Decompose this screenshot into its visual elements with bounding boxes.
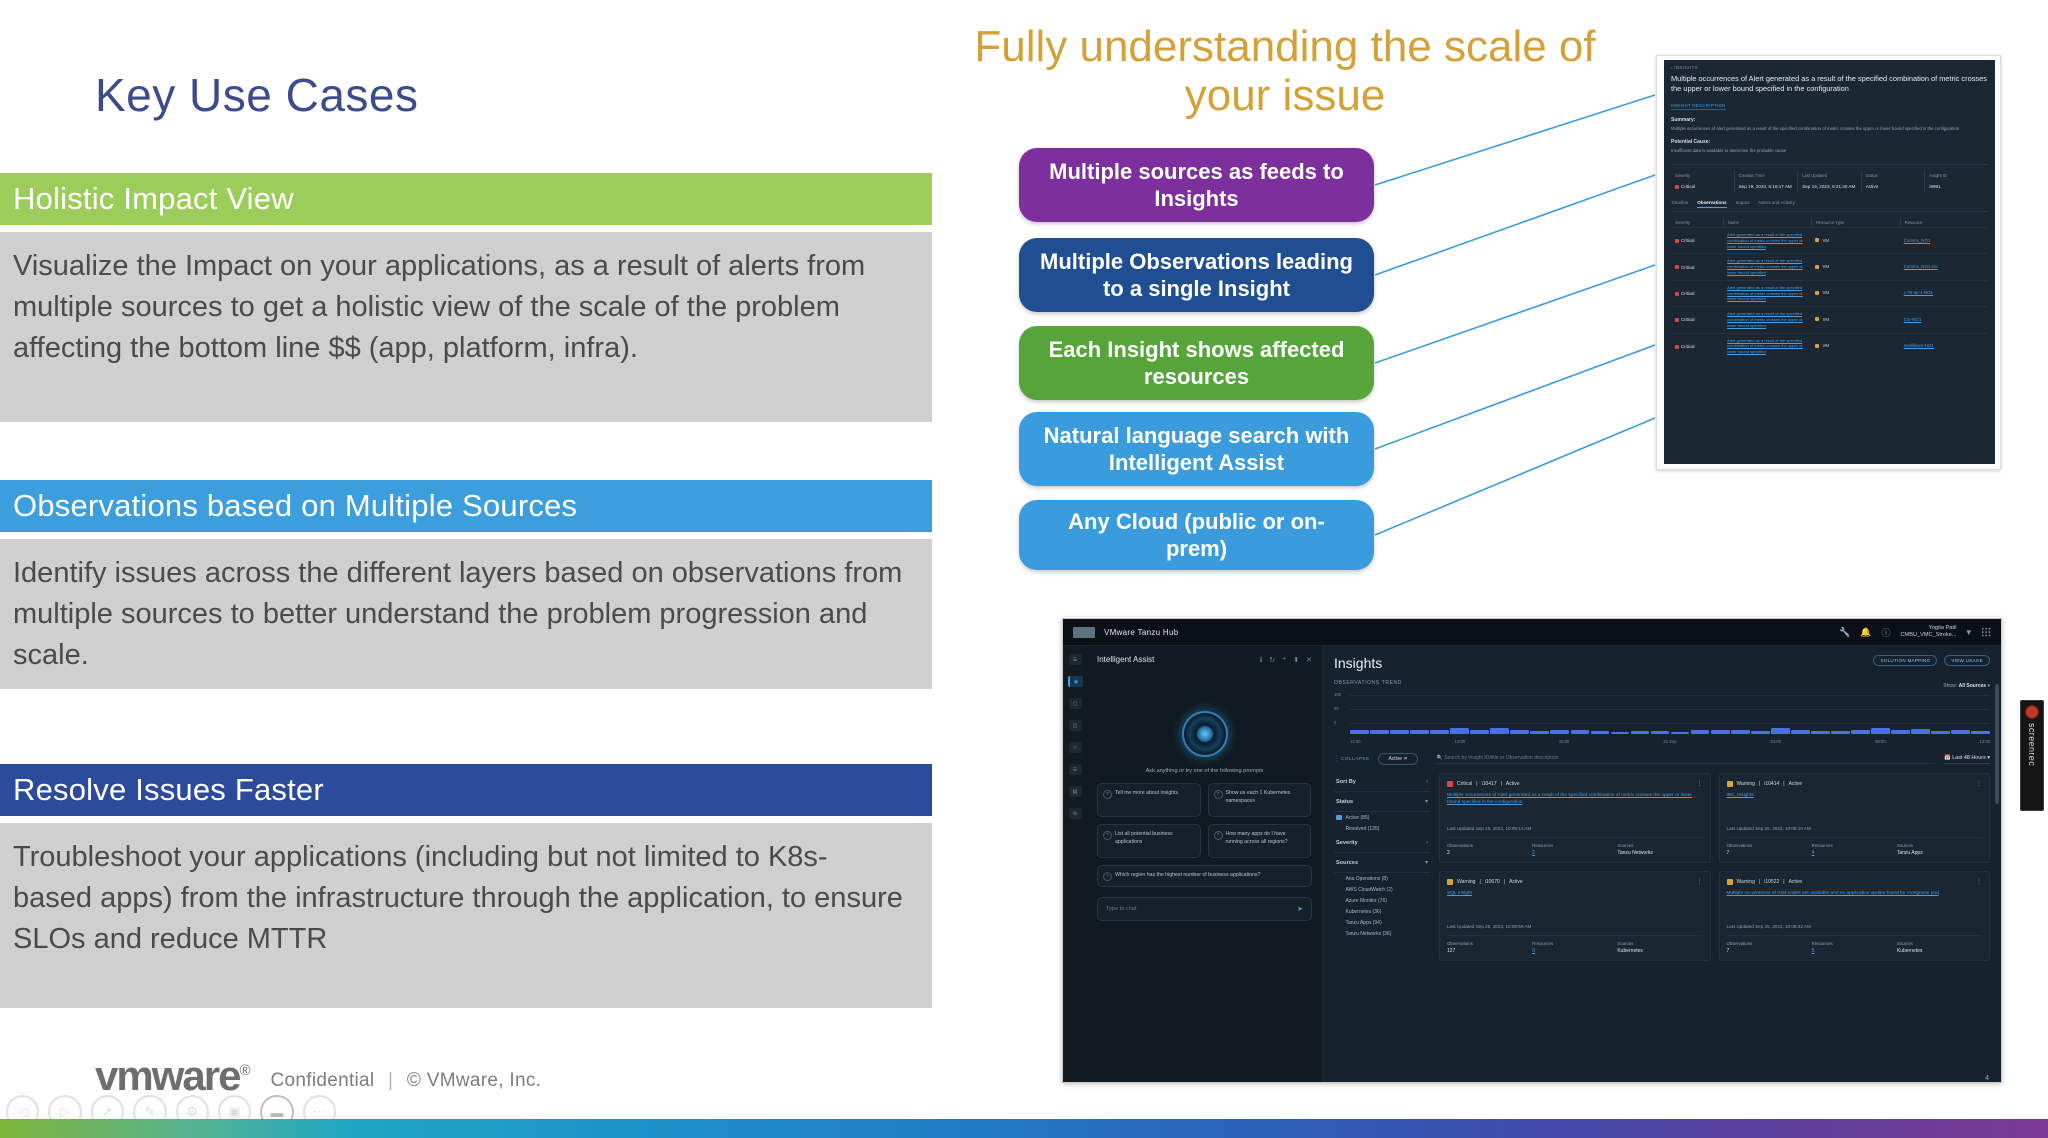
assist-prompt-list: ? Tell me more about insights ? Show us … — [1087, 774, 1322, 887]
chart-bar[interactable] — [1490, 728, 1509, 734]
chart-bar[interactable] — [1811, 731, 1830, 735]
obs-severity-text: Critical — [1681, 291, 1694, 296]
obs-header-resource-type[interactable]: Resource Type — [1811, 218, 1899, 227]
chart-bar[interactable] — [1711, 730, 1730, 734]
stat-value[interactable]: 3 — [1532, 948, 1617, 954]
card-sep: | — [1479, 879, 1480, 885]
meta-value-severity: Critical — [1671, 181, 1734, 192]
rail-settings-icon[interactable]: ⚙ — [1069, 808, 1082, 819]
collapse-button[interactable]: ⋮ COLLAPSE — [1334, 757, 1369, 762]
prompt-chip[interactable]: ? List all potential business applicatio… — [1097, 824, 1201, 858]
close-icon[interactable]: ✕ — [1306, 656, 1312, 664]
filter-groups: Status▾Active (85)Resolved (135)Severity… — [1334, 792, 1430, 939]
show-sources-selector[interactable]: Show: All Sources ▾ — [1943, 683, 1990, 689]
stat-value: 7 — [1727, 850, 1812, 856]
card-menu-icon[interactable]: ⋮ — [1976, 780, 1982, 787]
stat-sources: SourcesKubernetes — [1897, 941, 1982, 954]
card-sep: | — [1759, 879, 1760, 885]
stat-observations: Observations2 — [1447, 843, 1532, 856]
card-severity: Critical — [1457, 781, 1472, 787]
breadcrumb[interactable]: ‹ INSIGHTS — [1671, 65, 1988, 70]
user-menu[interactable]: Yogita Patil CMBU_VMC_Stroke... — [1901, 625, 1957, 638]
chart-bar[interactable] — [1430, 730, 1449, 734]
card-menu-icon[interactable]: ⋮ — [1697, 780, 1703, 787]
card-sep: | — [1759, 781, 1760, 787]
stat-value: Kubernetes — [1617, 948, 1702, 954]
card-severity: Warning — [1737, 781, 1755, 787]
obs-resource: L-Te-ap-1-NO1 — [1900, 290, 1988, 296]
table-row[interactable]: CriticalAlert generated as a result of t… — [1671, 227, 1988, 253]
filter-option[interactable]: Active (85) — [1334, 812, 1430, 823]
obs-type-text: VM — [1822, 317, 1829, 322]
chart-bar[interactable] — [1571, 730, 1590, 734]
tanzu-hub-screenshot: VMware Tanzu Hub 🔧 🔔 ⓘ Yogita Patil CMBU… — [1062, 618, 2002, 1083]
chip-active-filter[interactable]: Active ✕ — [1378, 753, 1417, 765]
filter-option-label: Azure Monitor (76) — [1346, 898, 1387, 904]
card-header: Warning|i10522|Active⋮ — [1727, 878, 1983, 885]
obs-severity-text: Critical — [1681, 317, 1694, 322]
show-value: All Sources — [1959, 683, 1987, 689]
app-grid-icon[interactable] — [1981, 627, 1991, 637]
stat-label: Sources — [1617, 843, 1702, 848]
prompt-chip[interactable]: ? Show us each 1 Kubernetes namespaces — [1208, 783, 1312, 817]
filter-option[interactable]: Tanzu Networks (36) — [1334, 928, 1430, 939]
insights-filter-sidebar: Sort By › Status▾Active (85)Resolved (13… — [1334, 773, 1430, 961]
obs-severity: Critical — [1671, 238, 1723, 243]
footer-divider: | — [388, 1070, 393, 1091]
obs-name-link[interactable]: Alert generated as a result of the speci… — [1727, 285, 1807, 302]
chart-bar[interactable] — [1350, 730, 1369, 734]
chart-bar[interactable] — [1550, 730, 1569, 734]
collapse-label: COLLAPSE — [1341, 757, 1370, 762]
chart-bar[interactable] — [1390, 730, 1409, 734]
insights-search-input[interactable]: 🔍 Search by Insight ID/title or Observat… — [1437, 755, 1935, 764]
card-sep: | — [1476, 781, 1477, 787]
vm-icon — [1815, 238, 1819, 242]
new-chat-icon[interactable]: + — [1282, 656, 1286, 664]
obs-header-name[interactable]: Name — [1723, 218, 1811, 227]
obs-type-text: VM — [1822, 343, 1829, 348]
obs-severity: Critical — [1671, 291, 1723, 296]
hub-nav-rail[interactable]: ☰ ◉ ▢ ◫ ☉ ☵ ▤ ⚙ — [1063, 646, 1087, 1083]
stat-resources: Resources5 — [1812, 941, 1897, 954]
table-row[interactable]: CriticalAlert generated as a result of t… — [1671, 333, 1988, 359]
stat-label: Resources — [1532, 941, 1617, 946]
insights-title: Insights — [1334, 655, 1382, 671]
help-icon[interactable]: ⓘ — [1882, 626, 1891, 639]
meta-header-status: Status — [1861, 170, 1925, 181]
chart-bar[interactable] — [1651, 731, 1670, 734]
prompt-chip[interactable]: ? Which region has the highest number of… — [1097, 865, 1312, 887]
vm-icon — [1815, 344, 1819, 348]
bell-icon[interactable]: 🔔 — [1860, 627, 1871, 638]
chart-bar[interactable] — [1631, 731, 1650, 734]
stat-value: Tanzu Apps — [1897, 850, 1982, 856]
card-severity: Warning — [1737, 879, 1755, 885]
rail-security-icon[interactable]: ☉ — [1069, 742, 1082, 753]
assist-tools[interactable]: ℹ ↻ + ⬍ ✕ — [1260, 656, 1312, 664]
pill-multiple-observations-single-insight: Multiple Observations leading to a singl… — [1019, 238, 1374, 312]
use-case-heading-resolve-issues-faster: Resolve Issues Faster — [0, 764, 932, 816]
meta-value-row: Critical Sep 19, 2023, 6:18:17 AM Sep 19… — [1671, 181, 1988, 192]
registered-mark-icon: ® — [239, 1062, 248, 1079]
hub-body: ☰ ◉ ▢ ◫ ☉ ☵ ▤ ⚙ Intelligent Assist ℹ ↻ +… — [1063, 646, 2001, 1083]
card-status: Active — [1509, 879, 1523, 885]
record-dot-icon — [2026, 706, 2038, 718]
stat-label: Observations — [1727, 843, 1812, 848]
filter-group-status[interactable]: Status▾ — [1334, 792, 1430, 812]
checkbox-icon[interactable] — [1336, 887, 1342, 893]
stat-resources: Resources4 — [1812, 843, 1897, 856]
filter-option[interactable]: Azure Monitor (76) — [1334, 895, 1430, 906]
card-title-link[interactable]: Multiple occurrences of Alert generated … — [1447, 792, 1703, 806]
insight-detail-panel: ‹ INSIGHTS Multiple occurrences of Alert… — [1664, 60, 1995, 464]
vm-icon — [1815, 265, 1819, 269]
prompt-chip[interactable]: ? How many apps do I have running across… — [1208, 824, 1312, 858]
x-tick-label: 14:00 — [1454, 739, 1464, 744]
stat-label: Sources — [1897, 941, 1982, 946]
filter-option-label: AWS CloudWatch (2) — [1346, 887, 1393, 893]
card-menu-icon[interactable]: ⋮ — [1976, 878, 1982, 885]
badge-solution-mapping[interactable]: SOLUTION MAPPING — [1873, 655, 1937, 666]
confidential-label: Confidential — [271, 1070, 375, 1091]
send-icon[interactable]: ➤ — [1297, 905, 1303, 913]
critical-severity-icon — [1675, 265, 1679, 269]
obs-header-severity[interactable]: Severity — [1671, 218, 1723, 227]
tab-observations[interactable]: Observations — [1697, 200, 1726, 208]
chart-bar[interactable] — [1611, 732, 1630, 734]
question-icon: ? — [1103, 831, 1112, 840]
obs-type-text: VM — [1822, 238, 1829, 243]
obs-severity-text: Critical — [1681, 238, 1694, 243]
card-id: i10417 — [1482, 781, 1497, 787]
chart-bar[interactable] — [1891, 730, 1910, 734]
obs-type: VM — [1811, 238, 1899, 244]
table-row[interactable]: CriticalAlert generated as a result of t… — [1671, 253, 1988, 279]
obs-severity: Critical — [1671, 317, 1723, 322]
meta-header-last-updated: Last Updated — [1797, 170, 1861, 181]
checkbox-icon[interactable] — [1336, 876, 1342, 882]
info-icon[interactable]: ℹ — [1260, 656, 1263, 664]
chart-bar[interactable] — [1931, 731, 1950, 734]
observations-header-row: Severity Name Resource Type Resource — [1671, 218, 1988, 227]
obs-name-link[interactable]: Alert generated as a result of the speci… — [1727, 311, 1807, 328]
stat-resources: Resources2 — [1532, 843, 1617, 856]
insight-tabs[interactable]: Timeline Observations Impact Notes and A… — [1671, 200, 1988, 212]
card-last-updated: Last Updated Sep 25, 2023, 10:09:32 AM — [1727, 918, 1983, 929]
screenrec-watermark: screenrec — [2020, 700, 2044, 811]
slide-number: 4 — [1985, 1075, 1989, 1082]
obs-resource-link[interactable]: L-Te-ap-1-NO1 — [1904, 290, 1933, 295]
screenrec-label: screenrec — [2027, 723, 2037, 766]
stat-value: 127 — [1447, 948, 1532, 954]
use-case-body-resolve-issues-faster: Troubleshoot your applications (includin… — [0, 823, 932, 1008]
tab-notes-and-activity[interactable]: Notes and Activity — [1758, 200, 1795, 208]
summary-text: Multiple occurrences of Alert generated … — [1671, 126, 1988, 132]
obs-name: Alert generated as a result of the speci… — [1723, 258, 1811, 275]
hub-top-bar-actions: 🔧 🔔 ⓘ Yogita Patil CMBU_VMC_Stroke... ▾ — [1839, 625, 1991, 638]
checkbox-icon[interactable] — [1336, 909, 1342, 915]
obs-severity: Critical — [1671, 265, 1723, 270]
filter-option[interactable]: AWS CloudWatch (2) — [1334, 884, 1430, 895]
insights-header-badges[interactable]: SOLUTION MAPPING VIEW USAGE — [1873, 655, 1990, 666]
assist-header: Intelligent Assist ℹ ↻ + ⬍ ✕ — [1087, 646, 1322, 673]
obs-severity: Critical — [1671, 344, 1723, 349]
use-case-body-holistic-impact-view: Visualize the Impact on your application… — [0, 232, 932, 422]
card-sep: | — [1783, 879, 1784, 885]
card-stats: Observations7Resources5SourcesKubernetes — [1727, 935, 1983, 954]
observations-rows: CriticalAlert generated as a result of t… — [1671, 227, 1988, 359]
filter-group-label: Severity — [1336, 840, 1358, 846]
x-tick-label: 08:00 — [1875, 739, 1885, 744]
wrench-icon[interactable]: 🔧 — [1839, 627, 1850, 638]
card-status: Active — [1789, 781, 1803, 787]
filter-option[interactable]: Resolved (135) — [1334, 823, 1430, 834]
critical-severity-icon — [1675, 345, 1679, 349]
filter-sort-by[interactable]: Sort By › — [1334, 773, 1430, 792]
obs-resource-link[interactable]: Cor-NO1 — [1904, 317, 1922, 322]
chart-bar[interactable] — [1871, 728, 1890, 734]
chart-bar[interactable] — [1510, 730, 1529, 734]
checkbox-icon[interactable] — [1336, 920, 1342, 926]
y-tick-0: 0 — [1334, 720, 1336, 725]
card-header: Critical|i10417|Active⋮ — [1447, 780, 1703, 787]
obs-name: Alert generated as a result of the speci… — [1723, 311, 1811, 328]
chart-bar[interactable] — [1530, 731, 1549, 735]
tab-timeline[interactable]: Timeline — [1671, 200, 1688, 208]
obs-severity-text: Critical — [1681, 344, 1694, 349]
chat-placeholder: Type to chat — [1106, 906, 1136, 912]
checkbox-icon[interactable] — [1336, 815, 1342, 821]
checkbox-icon[interactable] — [1336, 826, 1342, 832]
obs-name-link[interactable]: Alert generated as a result of the speci… — [1727, 338, 1807, 355]
chart-bar[interactable] — [1911, 729, 1930, 734]
card-id: i10414 — [1764, 781, 1779, 787]
breadcrumb-label: INSIGHTS — [1674, 65, 1698, 70]
prompt-label: Show us each 1 Kubernetes namespaces — [1226, 790, 1291, 804]
stat-resources: Resources3 — [1532, 941, 1617, 954]
insights-scrollbar[interactable] — [1995, 684, 1999, 804]
chevron-right-icon: › — [1426, 840, 1428, 846]
obs-type: VM — [1811, 343, 1899, 349]
card-title-link[interactable]: Multiple occurrences of Grid nodes are a… — [1727, 890, 1983, 897]
assist-orb-core — [1197, 726, 1213, 742]
insights-header: Insights SOLUTION MAPPING VIEW USAGE — [1334, 655, 1990, 671]
obs-severity-text: Critical — [1681, 265, 1694, 270]
stat-label: Observations — [1727, 941, 1812, 946]
vm-icon — [1815, 317, 1819, 321]
chart-bar[interactable] — [1591, 731, 1610, 734]
chart-bar[interactable] — [1971, 731, 1990, 734]
prompt-label: How many apps do I have running across a… — [1226, 831, 1288, 845]
filter-option[interactable]: Kubernetes (36) — [1334, 906, 1430, 917]
filter-group-label: Status — [1336, 799, 1353, 805]
assist-orb-icon — [1182, 711, 1228, 757]
insight-description-label: INSIGHT DESCRIPTION — [1671, 103, 1726, 110]
stat-observations: Observations7 — [1727, 941, 1812, 954]
history-icon[interactable]: ↻ — [1269, 656, 1275, 664]
obs-name-link[interactable]: Alert generated as a result of the speci… — [1727, 232, 1807, 249]
card-severity: Warning — [1457, 879, 1475, 885]
meta-value-insight-id: i9991 — [1924, 181, 1988, 192]
observations-trend-chart: 100 50 0 12:0014:0016:0021 Sep04:0008:00… — [1334, 692, 1990, 744]
intelligent-assist-panel: Intelligent Assist ℹ ↻ + ⬍ ✕ Ask anythin… — [1087, 646, 1323, 1083]
chevron-down-icon: ▾ — [1425, 859, 1428, 866]
meta-severity-text: Critical — [1681, 184, 1695, 189]
insight-card-list: Critical|i10417|Active⋮Multiple occurren… — [1439, 773, 1990, 961]
filter-option-label: Resolved (135) — [1346, 826, 1380, 832]
stat-value[interactable]: 2 — [1532, 850, 1617, 856]
filter-group-sources[interactable]: Sources▾ — [1334, 853, 1430, 873]
chart-bar[interactable] — [1751, 731, 1770, 734]
card-menu-icon[interactable]: ⋮ — [1697, 878, 1703, 885]
product-name: VMware Tanzu Hub — [1104, 628, 1178, 637]
obs-name: Alert generated as a result of the speci… — [1723, 285, 1811, 302]
filter-option[interactable]: Tanzu Apps (94) — [1334, 917, 1430, 928]
card-last-updated: Last Updated Sep 25, 2023, 10:09:59 AM — [1447, 918, 1703, 929]
card-status: Active — [1506, 781, 1520, 787]
filter-group-label: Sources — [1336, 860, 1358, 866]
obs-resource-link[interactable]: Comms_NO1 — [1904, 238, 1931, 243]
insights-controls: ⋮ COLLAPSE Active ✕ 🔍 Search by Insight … — [1334, 753, 1990, 765]
stat-value[interactable]: 4 — [1812, 850, 1897, 856]
filter-option-label: Kubernetes (36) — [1346, 909, 1382, 915]
show-label: Show: — [1943, 683, 1957, 689]
meta-header-insight-id: Insight ID — [1924, 170, 1988, 181]
card-title-link[interactable]: SQL Insight — [1447, 890, 1703, 897]
copyright-label: © VMware, Inc. — [407, 1070, 541, 1091]
prompt-chip[interactable]: ? Tell me more about insights — [1097, 783, 1201, 817]
question-icon: ? — [1103, 790, 1112, 799]
user-name: Yogita Patil — [1929, 625, 1957, 631]
time-range-label: Last 48 Hours — [1952, 755, 1986, 761]
search-placeholder: Search by Insight ID/title or Observatio… — [1444, 755, 1558, 761]
chart-bar[interactable] — [1731, 730, 1750, 734]
expand-icon[interactable]: ⬍ — [1293, 656, 1299, 664]
filter-option[interactable]: Aria Operations (8) — [1334, 873, 1430, 884]
chart-bar[interactable] — [1450, 728, 1469, 734]
checkbox-icon[interactable] — [1336, 898, 1342, 904]
insights-panel: Insights SOLUTION MAPPING VIEW USAGE OBS… — [1323, 646, 2001, 1083]
stat-value[interactable]: 5 — [1812, 948, 1897, 954]
obs-type: VM — [1811, 264, 1899, 270]
card-sep: | — [1783, 781, 1784, 787]
stat-observations: Observations127 — [1447, 941, 1532, 954]
rail-reports-icon[interactable]: ◫ — [1069, 720, 1082, 731]
rail-insights-icon[interactable]: ◉ — [1068, 676, 1083, 687]
obs-resource-link[interactable]: Comms_NO1-cre — [1904, 264, 1938, 269]
card-title-link[interactable]: IBC_Insights — [1727, 792, 1983, 799]
time-range-selector[interactable]: 📅 Last 48 Hours ▾ — [1944, 755, 1990, 764]
table-row[interactable]: CriticalAlert generated as a result of t… — [1671, 280, 1988, 306]
card-last-updated: Last Updated Sep 25, 2023, 10:09:14 AM — [1447, 820, 1703, 831]
filter-option-label: Aria Operations (8) — [1346, 876, 1388, 882]
chart-bar[interactable] — [1470, 730, 1489, 734]
y-tick-50: 50 — [1334, 706, 1339, 711]
card-stats: Observations2Resources2SourcesTanzu Netw… — [1447, 837, 1703, 856]
stat-label: Sources — [1897, 843, 1982, 848]
stat-label: Observations — [1447, 941, 1532, 946]
insight-card[interactable]: Critical|i10417|Active⋮Multiple occurren… — [1439, 773, 1711, 863]
tab-impact[interactable]: Impact — [1736, 200, 1750, 208]
critical-severity-icon — [1447, 781, 1453, 787]
obs-type: VM — [1811, 290, 1899, 296]
obs-header-resource[interactable]: Resource — [1900, 218, 1988, 227]
rail-apps-icon[interactable]: ▢ — [1069, 698, 1082, 709]
card-header: Warning|i10414|Active⋮ — [1727, 780, 1983, 787]
question-icon: ? — [1214, 831, 1223, 840]
chart-bar[interactable] — [1410, 730, 1429, 734]
chart-bar[interactable] — [1771, 728, 1790, 734]
card-sep: | — [1501, 781, 1502, 787]
chart-bar[interactable] — [1691, 730, 1710, 734]
vmware-logo-icon — [1073, 627, 1095, 638]
filter-option-label: Active (85) — [1346, 815, 1370, 821]
rail-storage-icon[interactable]: ▤ — [1069, 786, 1082, 797]
filter-option-label: Tanzu Networks (36) — [1346, 931, 1392, 937]
card-sep: | — [1504, 879, 1505, 885]
obs-name: Alert generated as a result of the speci… — [1723, 338, 1811, 355]
critical-severity-icon — [1675, 292, 1679, 296]
question-icon: ? — [1214, 790, 1223, 799]
meta-header-row: Severity Creation Time Last Updated Stat… — [1671, 170, 1988, 181]
obs-resource: Comms_NO1 — [1900, 238, 1988, 244]
insight-meta-table: Severity Creation Time Last Updated Stat… — [1671, 164, 1988, 192]
gridline — [1350, 709, 1990, 710]
chart-bar[interactable] — [1370, 730, 1389, 734]
stat-label: Observations — [1447, 843, 1532, 848]
chart-bar[interactable] — [1831, 731, 1850, 734]
insight-card[interactable]: Warning|i10522|Active⋮Multiple occurrenc… — [1719, 871, 1991, 961]
card-id: i10670 — [1485, 879, 1500, 885]
x-tick-label: 21 Sep — [1663, 739, 1676, 744]
chart-bar[interactable] — [1791, 730, 1810, 734]
bottom-gradient-strip — [0, 1119, 2048, 1138]
chart-bars — [1350, 721, 1990, 734]
chevron-down-icon[interactable]: ▾ — [1966, 627, 1971, 638]
chart-bar[interactable] — [1851, 730, 1870, 734]
chevron-right-icon: › — [1426, 779, 1428, 785]
checkbox-icon[interactable] — [1336, 931, 1342, 937]
stat-value: 2 — [1447, 850, 1532, 856]
gridline — [1350, 695, 1990, 696]
stat-observations: Observations7 — [1727, 843, 1812, 856]
filter-group-severity[interactable]: Severity› — [1334, 834, 1430, 853]
assist-title: Intelligent Assist — [1097, 655, 1154, 664]
insight-card[interactable]: Warning|i10414|Active⋮IBC_InsightsLast U… — [1719, 773, 1991, 863]
pill-each-insight-affected-resources: Each Insight shows affected resources — [1019, 326, 1374, 400]
critical-severity-icon — [1675, 318, 1679, 322]
x-tick-label: 16:00 — [1559, 739, 1569, 744]
obs-resource-link[interactable]: Intelliback-NO1 — [1904, 343, 1934, 348]
chat-input[interactable]: Type to chat ➤ — [1097, 897, 1312, 921]
obs-name-link[interactable]: Alert generated as a result of the speci… — [1727, 258, 1807, 275]
badge-view-usage[interactable]: VIEW USAGE — [1944, 655, 1990, 666]
insight-card[interactable]: Warning|i10670|Active⋮SQL InsightLast Up… — [1439, 871, 1711, 961]
table-row[interactable]: CriticalAlert generated as a result of t… — [1671, 306, 1988, 332]
sort-by-label: Sort By — [1336, 779, 1356, 785]
rail-home-icon[interactable]: ☰ — [1069, 654, 1082, 665]
stat-sources: SourcesTanzu Networks — [1617, 843, 1702, 856]
chart-bar[interactable] — [1951, 730, 1970, 734]
observations-trend-label: OBSERVATIONS TREND — [1334, 680, 1990, 686]
obs-type-text: VM — [1822, 264, 1829, 269]
chart-bar[interactable] — [1671, 732, 1690, 734]
rail-network-icon[interactable]: ☵ — [1069, 764, 1082, 775]
x-tick-label: 04:00 — [1771, 739, 1781, 744]
stat-value: Kubernetes — [1897, 948, 1982, 954]
stat-label: Sources — [1617, 941, 1702, 946]
